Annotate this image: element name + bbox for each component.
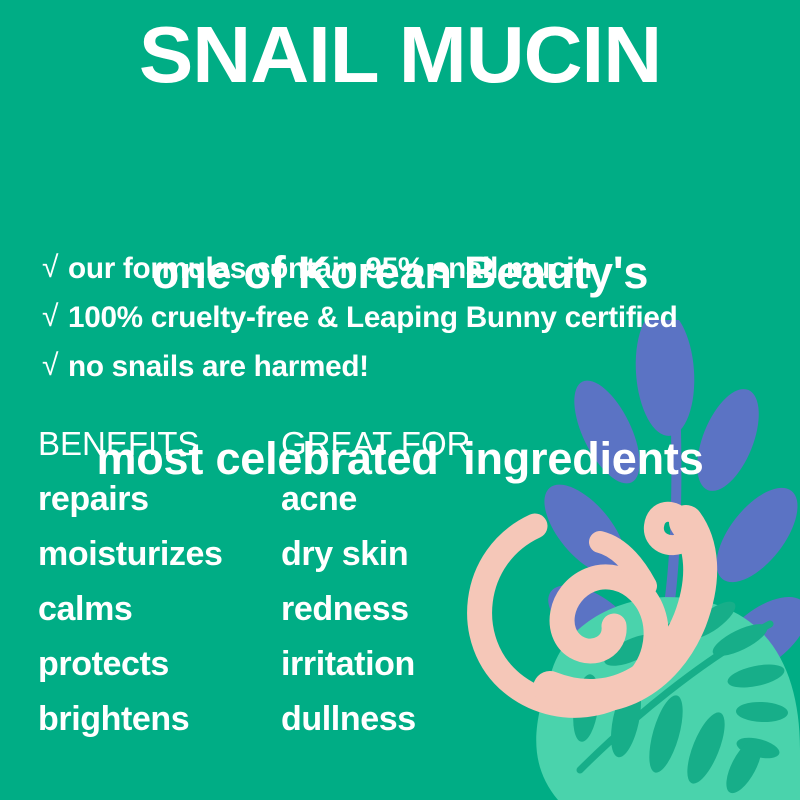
column-benefits: BENEFITS repairs moisturizes calms prote…: [38, 424, 281, 738]
column-item: dullness: [281, 700, 524, 738]
poster-canvas: SNAIL MUCIN one of Korean Beauty's most …: [0, 0, 800, 800]
checklist-item-label: no snails are harmed!: [68, 350, 369, 384]
check-icon: √: [42, 351, 68, 381]
page-title: SNAIL MUCIN: [0, 12, 800, 98]
column-heading: BENEFITS: [38, 424, 281, 464]
column-great-for: GREAT FOR acne dry skin redness irritati…: [281, 424, 524, 738]
feature-columns: BENEFITS repairs moisturizes calms prote…: [38, 424, 524, 738]
column-heading: GREAT FOR: [281, 424, 524, 464]
column-item: acne: [281, 480, 524, 518]
column-item: moisturizes: [38, 535, 281, 573]
column-item: brightens: [38, 700, 281, 738]
checklist-item-label: our formulas contain 95% snail mucin: [68, 252, 592, 286]
check-icon: √: [42, 302, 68, 332]
checklist-item: √ our formulas contain 95% snail mucin: [42, 252, 782, 288]
checklist-item-label: 100% cruelty-free & Leaping Bunny certif…: [68, 301, 677, 335]
column-item: redness: [281, 590, 524, 628]
column-item: dry skin: [281, 535, 524, 573]
column-item: repairs: [38, 480, 281, 518]
column-item: irritation: [281, 645, 524, 683]
column-item: calms: [38, 590, 281, 628]
checklist: √ our formulas contain 95% snail mucin √…: [42, 252, 782, 399]
checklist-item: √ no snails are harmed!: [42, 350, 782, 386]
check-icon: √: [42, 253, 68, 283]
checklist-item: √ 100% cruelty-free & Leaping Bunny cert…: [42, 301, 782, 337]
column-item: protects: [38, 645, 281, 683]
